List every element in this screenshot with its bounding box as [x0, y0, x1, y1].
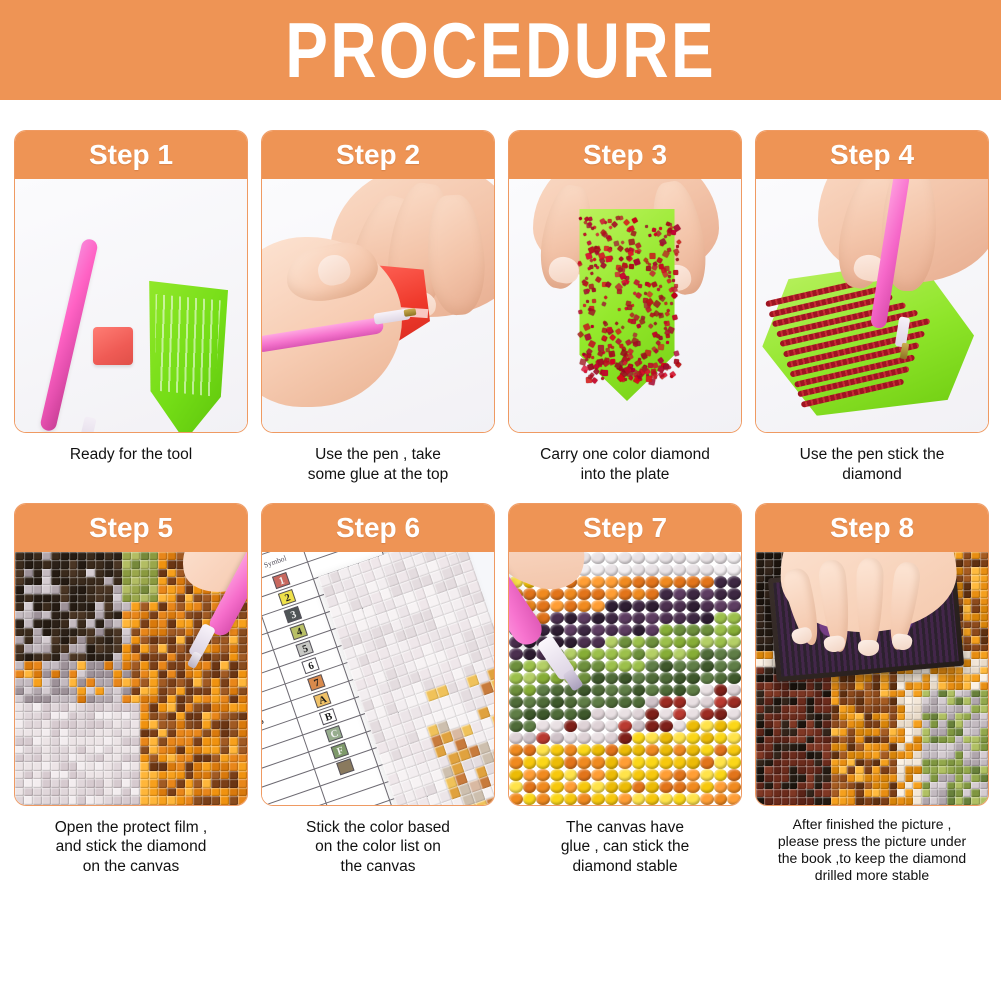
- step-1-header: Step 1: [15, 131, 247, 179]
- diamond-drill: [963, 705, 971, 713]
- diamond-drill: [69, 644, 78, 652]
- diamond-drill: [238, 779, 247, 787]
- diamond-drill: [814, 690, 822, 698]
- diamond-drill: [24, 560, 33, 568]
- diamond-drill: [700, 564, 714, 576]
- diamond-drill: [963, 759, 971, 767]
- diamond-drill: [922, 774, 930, 782]
- diamond-drill: [15, 678, 24, 686]
- diamond-drill: [113, 644, 122, 652]
- diamond-drill: [971, 705, 979, 713]
- diamond-drill: [51, 569, 60, 577]
- diamond-drill: [645, 636, 659, 648]
- diamond-drill: [149, 746, 158, 754]
- diamond-drill: [42, 695, 51, 703]
- red-diamond: [654, 321, 658, 325]
- step-4-card: Step 4: [755, 130, 989, 433]
- diamond-drill: [86, 712, 95, 720]
- diamond-drill: [523, 720, 537, 732]
- diamond-drill: [797, 797, 805, 805]
- diamond-drill: [764, 759, 772, 767]
- diamond-drill: [122, 754, 131, 762]
- diamond-drill: [922, 743, 930, 751]
- diamond-drill: [158, 729, 167, 737]
- step-card-8: Step 8: [755, 503, 989, 884]
- red-diamond: [663, 302, 667, 306]
- diamond-drill: [77, 644, 86, 652]
- diamond-drill: [889, 774, 897, 782]
- diamond-drill: [727, 793, 741, 805]
- diamond-drill: [955, 728, 963, 736]
- diamond-drill: [176, 602, 185, 610]
- diamond-drill: [727, 684, 741, 696]
- diamond-drill: [149, 602, 158, 610]
- diamond-drill: [897, 682, 905, 690]
- diamond-drill: [122, 788, 131, 796]
- diamond-drill: [659, 648, 673, 660]
- diamond-drill: [963, 590, 971, 598]
- diamond-drill: [238, 695, 247, 703]
- diamond-drill: [872, 713, 880, 721]
- diamond-drill: [872, 743, 880, 751]
- diamond-drill: [229, 754, 238, 762]
- fingernail-icon: [858, 639, 879, 655]
- diamond-drill: [193, 678, 202, 686]
- diamond-drill: [523, 781, 537, 793]
- diamond-drill: [140, 602, 149, 610]
- diamond-drill: [880, 774, 888, 782]
- diamond-drill: [238, 796, 247, 804]
- diamond-drill: [872, 751, 880, 759]
- diamond-drill: [659, 612, 673, 624]
- diamond-drill: [33, 585, 42, 593]
- diamond-drill: [77, 602, 86, 610]
- red-diamond: [635, 250, 638, 253]
- diamond-drill: [930, 697, 938, 705]
- diamond-drill: [86, 729, 95, 737]
- red-diamond: [620, 325, 625, 330]
- red-diamond: [649, 324, 654, 329]
- diamond-drill: [930, 713, 938, 721]
- diamond-drill: [158, 569, 167, 577]
- sunflower-mosaic-illustration: [15, 552, 247, 805]
- diamond-drill: [727, 708, 741, 720]
- diamond-drill: [781, 720, 789, 728]
- diamond-drill: [33, 771, 42, 779]
- diamond-drill: [686, 636, 700, 648]
- diamond-drill: [51, 661, 60, 669]
- diamond-drill: [700, 600, 714, 612]
- diamond-drill: [831, 682, 839, 690]
- diamond-drill: [60, 670, 69, 678]
- diamond-drill: [77, 771, 86, 779]
- diamond-drill: [673, 552, 687, 564]
- diamond-drill: [806, 682, 814, 690]
- diamond-drill: [831, 743, 839, 751]
- diamond-drill: [238, 762, 247, 770]
- diamond-drill: [176, 779, 185, 787]
- diamond-drill: [971, 797, 979, 805]
- diamond-drill: [847, 728, 855, 736]
- diamond-drill: [122, 619, 131, 627]
- diamond-drill: [77, 653, 86, 661]
- diamond-drill: [140, 762, 149, 770]
- diamond-drill: [211, 762, 220, 770]
- diamond-drill: [700, 576, 714, 588]
- diamond-drill: [122, 729, 131, 737]
- diamond-drill: [797, 789, 805, 797]
- red-diamond: [607, 327, 612, 332]
- diamond-drill: [60, 788, 69, 796]
- diamond-drill: [855, 766, 863, 774]
- green-tray-icon: [140, 278, 232, 432]
- diamond-drill: [33, 746, 42, 754]
- diamond-drill: [167, 762, 176, 770]
- diamond-drill: [51, 602, 60, 610]
- diamond-drill: [176, 619, 185, 627]
- diamond-drill: [158, 779, 167, 787]
- diamond-drill: [15, 585, 24, 593]
- diamond-drill: [980, 690, 988, 698]
- step-2-caption: Use the pen , takesome glue at the top: [261, 433, 495, 485]
- diamond-drill: [24, 670, 33, 678]
- diamond-drill: [855, 736, 863, 744]
- diamond-drill: [167, 678, 176, 686]
- diamond-drill: [659, 600, 673, 612]
- diamond-drill: [645, 732, 659, 744]
- diamond-drill: [42, 619, 51, 627]
- diamond-drill: [104, 737, 113, 745]
- diamond-drill: [938, 751, 946, 759]
- diamond-drill: [69, 653, 78, 661]
- diamond-drill: [95, 602, 104, 610]
- diamond-drill: [176, 712, 185, 720]
- step-6-image: SerialSymbolDMC1122300333074431055581666…: [262, 552, 494, 805]
- diamond-drill: [15, 602, 24, 610]
- diamond-drill: [756, 636, 764, 644]
- diamond-drill: [24, 611, 33, 619]
- diamond-drill: [922, 797, 930, 805]
- diamond-drill: [645, 684, 659, 696]
- diamond-drill: [167, 577, 176, 585]
- diamond-drill: [202, 746, 211, 754]
- diamond-drill: [86, 687, 95, 695]
- diamond-drill: [60, 628, 69, 636]
- diamond-drill: [980, 682, 988, 690]
- diamond-drill: [897, 743, 905, 751]
- step-card-5: Step 5 Open the protect film ,and stick …: [14, 503, 248, 884]
- diamond-drill: [185, 771, 194, 779]
- diamond-drill: [149, 552, 158, 560]
- diamond-drill: [700, 769, 714, 781]
- diamond-drill: [822, 697, 830, 705]
- diamond-drill: [947, 674, 955, 682]
- diamond-drill: [104, 552, 113, 560]
- diamond-drill: [971, 651, 979, 659]
- diamond-drill: [905, 674, 913, 682]
- diamond-drill: [193, 762, 202, 770]
- chart-symbol-swatch: 3: [284, 606, 302, 623]
- diamond-drill: [15, 687, 24, 695]
- diamond-drill: [77, 695, 86, 703]
- diamond-drill: [930, 774, 938, 782]
- diamond-drill: [122, 628, 131, 636]
- diamond-drill: [60, 552, 69, 560]
- diamond-drill: [51, 594, 60, 602]
- diamond-drill: [905, 789, 913, 797]
- diamond-drill: [140, 594, 149, 602]
- diamond-drill: [77, 636, 86, 644]
- diamond-drill: [673, 672, 687, 684]
- diamond-drill: [140, 585, 149, 593]
- diamond-drill: [24, 661, 33, 669]
- diamond-drill: [773, 552, 781, 560]
- diamond-drill: [855, 759, 863, 767]
- diamond-drill: [167, 703, 176, 711]
- diamond-drill: [104, 577, 113, 585]
- diamond-drill: [95, 594, 104, 602]
- diamond-drill: [95, 636, 104, 644]
- diamond-drill: [176, 585, 185, 593]
- diamond-drill: [113, 737, 122, 745]
- diamond-drill: [727, 612, 741, 624]
- diamond-drill: [806, 797, 814, 805]
- diamond-drill: [700, 708, 714, 720]
- chart-symbol-swatch: 6: [302, 657, 320, 674]
- diamond-drill: [69, 779, 78, 787]
- diamond-drill: [176, 678, 185, 686]
- red-diamond: [595, 232, 599, 236]
- diamond-drill: [980, 797, 988, 805]
- diamond-drill: [24, 552, 33, 560]
- diamond-drill: [15, 670, 24, 678]
- diamond-drill: [523, 769, 537, 781]
- diamond-drill: [51, 712, 60, 720]
- diamond-drill: [756, 690, 764, 698]
- red-diamond: [650, 369, 655, 374]
- diamond-drill: [855, 720, 863, 728]
- diamond-drill: [51, 678, 60, 686]
- diamond-drill: [971, 674, 979, 682]
- diamond-drill: [831, 697, 839, 705]
- diamond-drill: [864, 789, 872, 797]
- diamond-drill: [193, 788, 202, 796]
- diamond-drill: [86, 737, 95, 745]
- diamond-drill: [839, 797, 847, 805]
- diamond-drill: [880, 713, 888, 721]
- diamond-drill: [756, 789, 764, 797]
- diamond-drill: [714, 708, 728, 720]
- diamond-drill: [847, 720, 855, 728]
- diamond-drill: [673, 744, 687, 756]
- diamond-drill: [889, 674, 897, 682]
- diamond-drill: [238, 771, 247, 779]
- diamond-drill: [913, 736, 921, 744]
- diamond-drill: [33, 762, 42, 770]
- diamond-drill: [15, 577, 24, 585]
- diamond-drill: [95, 619, 104, 627]
- diamond-drill: [104, 729, 113, 737]
- diamond-drill: [167, 661, 176, 669]
- diamond-drill: [140, 619, 149, 627]
- diamond-drill: [764, 789, 772, 797]
- diamond-drill: [149, 729, 158, 737]
- diamond-drill: [158, 653, 167, 661]
- diamond-drill: [42, 771, 51, 779]
- diamond-drill: [104, 703, 113, 711]
- diamond-drill: [855, 774, 863, 782]
- red-diamond: [606, 235, 610, 239]
- diamond-drill: [122, 771, 131, 779]
- diamond-drill: [60, 729, 69, 737]
- diamond-drill: [77, 720, 86, 728]
- diamond-drill: [714, 588, 728, 600]
- diamond-drill: [60, 585, 69, 593]
- diamond-drill: [42, 754, 51, 762]
- diamond-drill: [756, 667, 764, 675]
- diamond-drill: [905, 774, 913, 782]
- diamond-drill: [980, 728, 988, 736]
- red-diamond: [600, 377, 604, 381]
- diamond-drill: [645, 756, 659, 768]
- diamond-drill: [930, 682, 938, 690]
- diamond-drill: [77, 569, 86, 577]
- diamond-drill: [577, 781, 591, 793]
- diamond-drill: [847, 797, 855, 805]
- diamond-drill: [95, 585, 104, 593]
- diamond-drill: [122, 720, 131, 728]
- diamond-drill: [211, 695, 220, 703]
- diamond-drill: [897, 674, 905, 682]
- diamond-drill: [95, 754, 104, 762]
- diamond-drill: [880, 736, 888, 744]
- diamond-drill: [814, 751, 822, 759]
- diamond-drill: [193, 611, 202, 619]
- diamond-drill: [963, 789, 971, 797]
- diamond-drill: [550, 588, 564, 600]
- diamond-drill: [971, 736, 979, 744]
- diamond-drill: [700, 756, 714, 768]
- diamond-drill: [632, 612, 646, 624]
- diamond-drill: [536, 769, 550, 781]
- diamond-drill: [167, 602, 176, 610]
- diamond-drill: [15, 628, 24, 636]
- diamond-drill: [963, 751, 971, 759]
- step-5-header: Step 5: [15, 504, 247, 552]
- diamond-drill: [131, 653, 140, 661]
- diamond-drill: [764, 705, 772, 713]
- diamond-drill: [104, 636, 113, 644]
- diamond-drill: [140, 552, 149, 560]
- diamond-drill: [33, 644, 42, 652]
- diamond-drill: [229, 687, 238, 695]
- diamond-drill: [605, 636, 619, 648]
- diamond-drill: [839, 713, 847, 721]
- diamond-drill: [618, 732, 632, 744]
- diamond-drill: [806, 697, 814, 705]
- diamond-drill: [781, 789, 789, 797]
- diamond-drill: [789, 789, 797, 797]
- diamond-drill: [60, 611, 69, 619]
- diamond-drill: [897, 751, 905, 759]
- diamond-drill: [618, 564, 632, 576]
- diamond-drill: [86, 661, 95, 669]
- diamond-drill: [536, 781, 550, 793]
- diamond-drill: [149, 560, 158, 568]
- diamond-drill: [86, 560, 95, 568]
- diamond-drill: [913, 674, 921, 682]
- diamond-drill: [591, 588, 605, 600]
- diamond-drill: [536, 708, 550, 720]
- diamond-drill: [536, 744, 550, 756]
- diamond-drill: [202, 653, 211, 661]
- diamond-drill: [645, 744, 659, 756]
- diamond-drill: [104, 695, 113, 703]
- steps-row-1: Step 1 Ready for: [0, 100, 1001, 485]
- diamond-drill: [938, 766, 946, 774]
- diamond-drill: [673, 648, 687, 660]
- diamond-drill: [550, 793, 564, 805]
- diamond-drill: [51, 703, 60, 711]
- diamond-drill: [77, 779, 86, 787]
- diamond-drill: [605, 612, 619, 624]
- diamond-drill: [700, 732, 714, 744]
- diamond-drill: [113, 653, 122, 661]
- diamond-drill: [971, 567, 979, 575]
- diamond-drill: [24, 577, 33, 585]
- diamond-drill: [149, 628, 158, 636]
- diamond-drill: [95, 695, 104, 703]
- diamond-drill: [158, 703, 167, 711]
- diamond-drill: [591, 720, 605, 732]
- diamond-drill: [700, 648, 714, 660]
- diamond-drill: [789, 774, 797, 782]
- diamond-drill: [913, 728, 921, 736]
- diamond-drill: [202, 771, 211, 779]
- diamond-drill: [756, 774, 764, 782]
- diamond-drill: [605, 720, 619, 732]
- diamond-drill: [855, 697, 863, 705]
- diamond-drill: [86, 720, 95, 728]
- diamond-drill: [550, 756, 564, 768]
- diamond-drill: [822, 774, 830, 782]
- diamond-drill: [95, 720, 104, 728]
- diamond-drill: [980, 552, 988, 560]
- chart-symbol-swatch: 7: [308, 674, 326, 691]
- diamond-drill: [113, 577, 122, 585]
- diamond-drill: [673, 636, 687, 648]
- diamond-drill: [764, 567, 772, 575]
- diamond-drill: [880, 797, 888, 805]
- diamond-drill: [158, 577, 167, 585]
- diamond-drill: [69, 552, 78, 560]
- diamond-drill: [131, 729, 140, 737]
- chart-symbol-swatch: F: [331, 742, 349, 759]
- diamond-drill: [238, 670, 247, 678]
- diamond-drill: [605, 588, 619, 600]
- diamond-drill: [149, 720, 158, 728]
- diamond-drill: [781, 743, 789, 751]
- diamond-drill: [60, 796, 69, 804]
- diamond-drill: [140, 771, 149, 779]
- diamond-drill: [113, 611, 122, 619]
- diamond-drill: [60, 703, 69, 711]
- diamond-drill: [140, 560, 149, 568]
- red-diamond: [646, 266, 652, 272]
- diamond-drill: [814, 743, 822, 751]
- diamond-drill: [33, 703, 42, 711]
- diamond-drill: [122, 670, 131, 678]
